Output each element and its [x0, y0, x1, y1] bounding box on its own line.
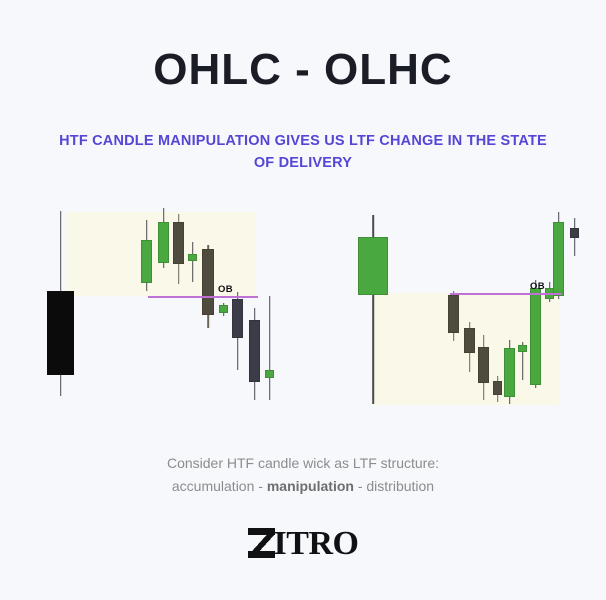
ltf-candle-right-6-body [518, 345, 527, 352]
ltf-candle-left-8 [249, 200, 260, 415]
ltf-candle-left-4 [188, 200, 197, 415]
ltf-candle-left-3-body [173, 222, 184, 264]
ltf-candle-right-10 [570, 200, 579, 415]
ob-line-left [148, 296, 258, 298]
htf-candle-left-body [47, 291, 74, 375]
caption-line-1: Consider HTF candle wick as LTF structur… [0, 452, 606, 475]
htf-candle-right [358, 200, 388, 415]
ltf-candle-left-4-wick [192, 242, 194, 282]
ltf-candle-left-2 [158, 200, 169, 415]
ltf-candle-right-3-body [478, 347, 489, 383]
ltf-candle-right-1 [448, 200, 459, 415]
caption-line-2: accumulation - manipulation - distributi… [0, 475, 606, 498]
ltf-candle-left-1-body [141, 240, 152, 283]
infographic-page: OHLC - OLHC HTF CANDLE MANIPULATION GIVE… [0, 0, 606, 600]
page-title: OHLC - OLHC [0, 45, 606, 95]
ltf-candle-left-2-body [158, 222, 169, 263]
ob-line-right [450, 293, 562, 295]
ltf-candle-right-7 [530, 200, 541, 415]
caption-block: Consider HTF candle wick as LTF structur… [0, 452, 606, 497]
htf-candle-left [47, 200, 74, 415]
htf-candle-right-body [358, 237, 388, 295]
ltf-candle-right-9 [553, 200, 564, 415]
ltf-candle-left-7 [232, 200, 243, 415]
ltf-candle-left-6-body [219, 305, 228, 313]
ltf-candle-left-1 [141, 200, 152, 415]
brand-logo: ITRO [0, 525, 606, 563]
ltf-candle-right-10-body [570, 228, 579, 238]
ltf-candle-right-1-body [448, 295, 459, 333]
ob-label-right: OB [530, 281, 545, 292]
ltf-candle-left-6 [219, 200, 228, 415]
ltf-candle-right-5 [504, 200, 515, 415]
ltf-candle-left-5-body [202, 249, 214, 315]
chart-olhc-right: OB [330, 200, 580, 415]
ltf-candle-left-5 [202, 200, 214, 415]
page-subtitle: HTF CANDLE MANIPULATION GIVES US LTF CHA… [58, 130, 548, 175]
ltf-candle-right-4-body [493, 381, 502, 395]
ltf-candle-right-5-body [504, 348, 515, 397]
logo-wordmark: ITRO [248, 525, 359, 563]
ltf-candle-right-9-body [553, 222, 564, 296]
caption-manipulation: manipulation [267, 478, 354, 494]
ltf-candle-left-4-body [188, 254, 197, 261]
ltf-candle-left-7-body [232, 299, 243, 338]
ltf-candle-left-3 [173, 200, 184, 415]
logo-text: ITRO [274, 525, 359, 562]
ltf-candle-right-2 [464, 200, 475, 415]
ltf-candle-left-9 [265, 200, 274, 415]
chart-ohlc-left: OB [36, 200, 286, 415]
ltf-candle-left-9-wick [269, 296, 271, 400]
ltf-candle-right-4 [493, 200, 502, 415]
ltf-candle-right-6 [518, 200, 527, 415]
ltf-candle-left-8-body [249, 320, 260, 382]
caption-accumulation: accumulation - [172, 478, 267, 494]
ob-label-left: OB [218, 284, 233, 295]
logo-z-glyph-icon [248, 528, 275, 558]
ltf-candle-right-2-body [464, 328, 475, 353]
caption-distribution: - distribution [354, 478, 434, 494]
ltf-candle-right-3 [478, 200, 489, 415]
ltf-candle-right-7-body [530, 288, 541, 385]
ltf-candle-left-9-body [265, 370, 274, 378]
